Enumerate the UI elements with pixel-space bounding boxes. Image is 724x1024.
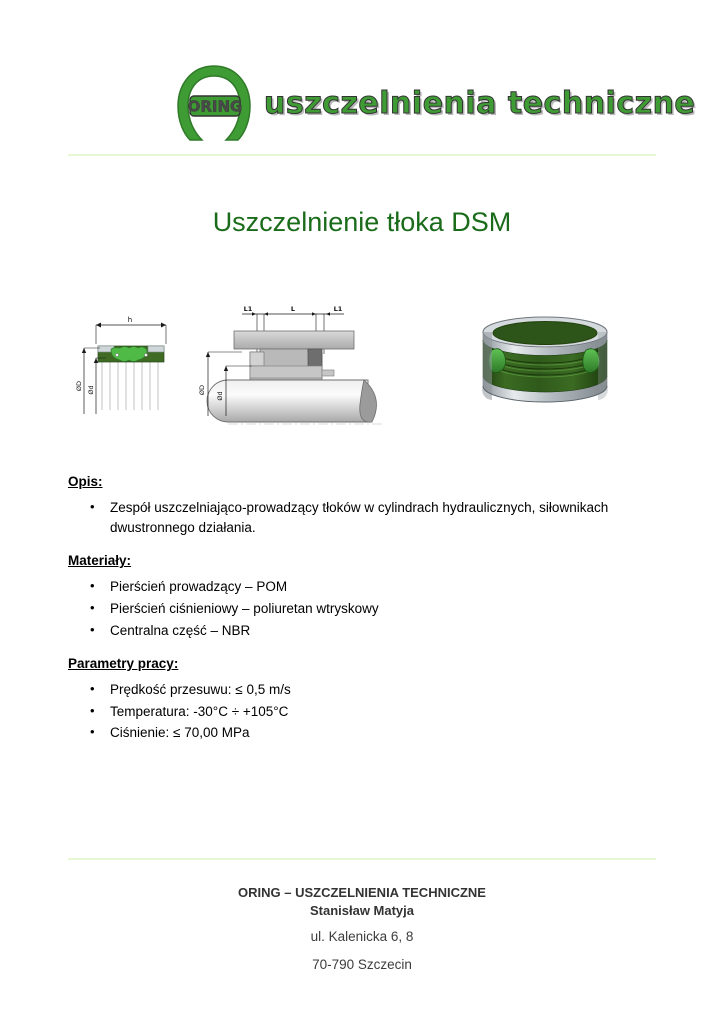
svg-text:h: h <box>128 316 132 324</box>
page-footer: ORING – USZCZELNIENIA TECHNICZNE Stanisł… <box>0 884 724 975</box>
section-list-parametry: Prędkość przesuwu: ≤ 0,5 m/s Temperatura… <box>68 680 668 743</box>
footer-person: Stanisław Matyja <box>0 902 724 920</box>
svg-text:Ød: Ød <box>87 385 95 394</box>
list-item: Temperatura: -30°C ÷ +105°C <box>86 702 668 722</box>
footer-street: ul. Kalenicka 6, 8 <box>0 928 724 947</box>
svg-text:L1: L1 <box>334 305 343 313</box>
brand-logo: ORING uszczelnienia techniczne <box>168 62 695 146</box>
list-item: Centralna część – NBR <box>86 621 668 641</box>
section-heading-parametry-pracy: Parametry pracy: <box>68 654 668 673</box>
brand-wordmark: uszczelnienia techniczne <box>264 89 695 119</box>
section-heading-materialy: Materiały: <box>68 551 668 570</box>
section-heading-opis: Opis: <box>68 472 668 491</box>
seal-cross-section-drawing: h ØD <box>72 304 184 431</box>
document-body: Opis: Zespół uszczelniająco-prowadzący t… <box>68 472 668 745</box>
list-item: Zespół uszczelniająco-prowadzący tłoków … <box>86 498 668 537</box>
svg-text:L: L <box>291 305 295 313</box>
svg-text:ØD: ØD <box>198 385 206 395</box>
list-item: Pierścień ciśnieniowy – poliuretan wtrys… <box>86 599 668 619</box>
footer-company: ORING – USZCZELNIENIA TECHNICZNE <box>0 884 724 902</box>
list-item: Prędkość przesuwu: ≤ 0,5 m/s <box>86 680 668 700</box>
section-list-opis: Zespół uszczelniająco-prowadzący tłoków … <box>68 498 668 537</box>
page-title: Uszczelnienie tłoka DSM <box>0 207 724 238</box>
footer-divider <box>68 858 656 860</box>
list-item: Pierścień prowadzący – POM <box>86 577 668 597</box>
seal-3d-render <box>470 306 620 433</box>
groove-installation-drawing: L1 L L1 <box>196 298 434 443</box>
header-divider <box>68 154 656 156</box>
footer-city: 70-790 Szczecin <box>0 956 724 975</box>
svg-text:ORING: ORING <box>188 98 243 116</box>
page-header: ORING uszczelnienia techniczne <box>0 0 724 155</box>
oring-omega-ring-logo: ORING <box>168 62 260 146</box>
svg-text:L1: L1 <box>244 305 253 313</box>
svg-text:ØD: ØD <box>75 381 83 391</box>
section-list-materialy: Pierścień prowadzący – POM Pierścień ciś… <box>68 577 668 640</box>
figure-row: h ØD <box>0 298 724 443</box>
svg-text:Ød: Ød <box>216 391 224 400</box>
list-item: Ciśnienie: ≤ 70,00 MPa <box>86 723 668 743</box>
